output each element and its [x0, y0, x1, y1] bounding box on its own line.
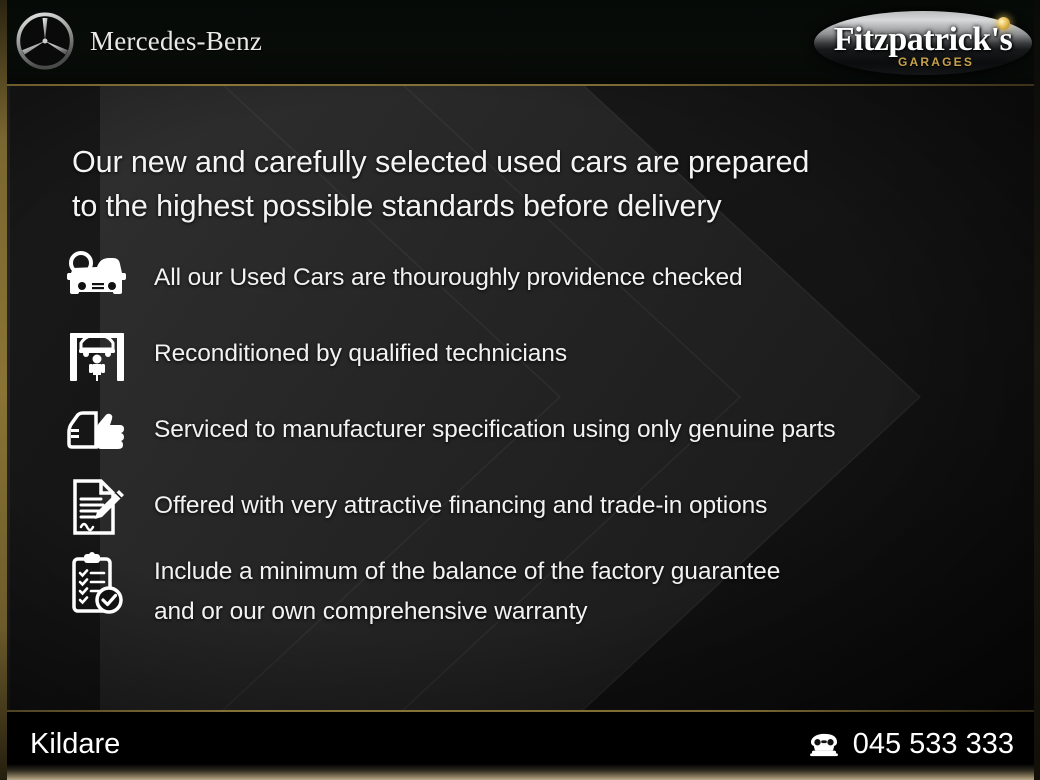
benefits-list: All our Used Cars are thouroughly provid…	[66, 248, 1016, 646]
page-title: Our new and carefully selected used cars…	[72, 140, 972, 228]
mercedes-benz-logo: Mercedes-Benz	[14, 10, 262, 72]
list-item: Reconditioned by qualified technicians	[66, 324, 1016, 386]
dealer-name: Fitzpatrick's	[814, 21, 1032, 59]
dealer-subtitle: GARAGES	[814, 55, 1032, 69]
footer-bar: Kildare 045 533 333	[0, 710, 1040, 780]
list-item: Serviced to manufacturer specification u…	[66, 400, 1016, 462]
phone-number: 045 533 333	[853, 728, 1014, 761]
car-thumbs-up-icon	[66, 400, 128, 462]
list-item-label: Reconditioned by qualified technicians	[154, 324, 567, 374]
left-border-bezel	[0, 0, 7, 780]
advertisement-banner: Mercedes-Benz Fitzpatrick's GARAGES	[0, 0, 1040, 780]
list-item-label-line-1: Include a minimum of the balance of the …	[154, 552, 780, 592]
content-area: Our new and carefully selected used cars…	[0, 85, 1040, 710]
list-item-label: All our Used Cars are thouroughly provid…	[154, 248, 743, 298]
document-pen-signature-icon	[66, 476, 128, 538]
dealer-location: Kildare	[30, 728, 120, 761]
car-inspection-icon	[66, 248, 128, 310]
mercedes-star-icon	[14, 10, 76, 72]
list-item-label: Offered with very attractive financing a…	[154, 476, 767, 526]
list-item-label: Include a minimum of the balance of the …	[154, 552, 780, 632]
main-panel: Our new and carefully selected used cars…	[0, 85, 1040, 710]
list-item-label: Serviced to manufacturer specification u…	[154, 400, 835, 450]
list-item: Include a minimum of the balance of the …	[66, 552, 1016, 632]
contact-phone[interactable]: 045 533 333	[809, 728, 1014, 761]
telephone-icon	[809, 732, 839, 758]
footer-bottom-glow	[0, 764, 1040, 780]
brand-name: Mercedes-Benz	[90, 26, 262, 57]
fitzpatricks-garages-logo: Fitzpatrick's GARAGES	[814, 7, 1032, 79]
footer-divider	[0, 710, 1040, 712]
header-bar: Mercedes-Benz Fitzpatrick's GARAGES	[0, 0, 1040, 85]
headline-line-1: Our new and carefully selected used cars…	[72, 140, 972, 184]
list-item: All our Used Cars are thouroughly provid…	[66, 248, 1016, 310]
car-lift-technician-icon	[66, 324, 128, 386]
right-border-bezel	[1034, 0, 1040, 780]
clipboard-checklist-icon	[66, 552, 128, 614]
list-item-label-line-2: and or our own comprehensive warranty	[154, 592, 780, 632]
list-item: Offered with very attractive financing a…	[66, 476, 1016, 538]
headline-line-2: to the highest possible standards before…	[72, 184, 972, 228]
